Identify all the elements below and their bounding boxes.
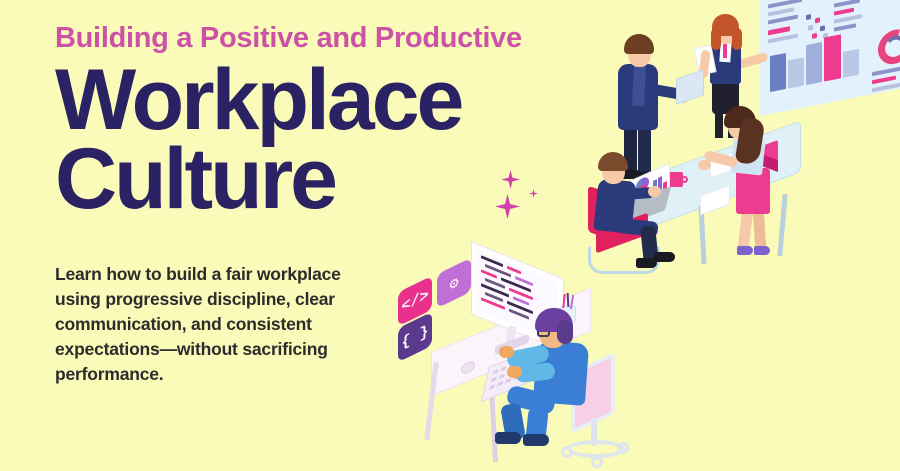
woman-skirt xyxy=(736,168,770,214)
board-dot xyxy=(820,25,825,31)
board-bar xyxy=(843,49,859,78)
woman-heel xyxy=(754,246,770,255)
seated-man-hand xyxy=(648,186,661,197)
woman-heel xyxy=(737,246,753,255)
board-line xyxy=(872,83,900,92)
hero-banner: Building a Positive and Productive Workp… xyxy=(0,0,900,471)
developer-shoe xyxy=(495,432,521,444)
standing-man-hair xyxy=(624,34,654,54)
presenter-hair-side xyxy=(711,28,721,50)
headline-line-2: Culture xyxy=(55,140,615,219)
developer-shoe xyxy=(523,434,549,446)
hero-text-column: Building a Positive and Productive Workp… xyxy=(55,22,615,220)
keyboard-key xyxy=(489,385,495,390)
board-line xyxy=(834,0,860,8)
board-dot xyxy=(815,17,820,23)
curly-braces-icon: { } xyxy=(401,322,428,352)
mug-handle xyxy=(681,176,688,183)
standing-man-papers xyxy=(676,69,704,104)
eyebrow-text: Building a Positive and Productive xyxy=(55,22,615,55)
developer-hand xyxy=(507,366,522,378)
board-line xyxy=(768,34,798,44)
board-content xyxy=(760,0,900,116)
presenter-hair-side xyxy=(732,28,742,50)
hero-body-text: Learn how to build a fair workplace usin… xyxy=(55,262,375,387)
keyboard-key xyxy=(491,377,497,382)
developer-desk-leg xyxy=(424,362,438,440)
board-dot xyxy=(806,14,811,20)
board-bar xyxy=(770,53,786,92)
pencil xyxy=(567,293,570,307)
board-bar xyxy=(788,57,804,88)
board-dot xyxy=(808,25,813,31)
keyboard-key xyxy=(493,369,499,374)
board-bar xyxy=(806,42,822,85)
keyboard-key xyxy=(505,378,511,383)
gears-badge: ⚙ xyxy=(437,258,471,309)
developer-hair-back xyxy=(557,320,573,344)
board-accent-line xyxy=(768,26,790,35)
presenter-leg xyxy=(715,112,723,138)
keyboard-key xyxy=(497,381,503,386)
chair-caster xyxy=(591,456,603,468)
gears-icon: ⚙ xyxy=(449,271,458,294)
standing-man-lapel xyxy=(632,66,646,107)
board-line xyxy=(834,14,862,23)
code-tag-icon: </> xyxy=(401,286,428,316)
woman-hand xyxy=(698,160,711,170)
board-dot xyxy=(812,33,817,39)
page-title: Workplace Culture xyxy=(55,61,615,219)
board-accent-line xyxy=(872,76,896,85)
board-line xyxy=(872,66,900,76)
board-bar-highlight xyxy=(824,34,841,81)
board-line xyxy=(834,23,856,31)
seated-man-shoe xyxy=(654,252,675,262)
headline-line-1: Workplace xyxy=(55,61,615,140)
chair-caster xyxy=(617,442,629,454)
keyboard-key xyxy=(499,374,505,379)
developer-hand xyxy=(499,346,514,358)
board-line xyxy=(768,0,802,8)
meeting-desk-leg xyxy=(777,194,787,256)
team-presentation-illustration xyxy=(580,0,900,304)
board-line xyxy=(768,15,798,25)
board-accent-line xyxy=(834,8,854,16)
chair-caster xyxy=(561,446,573,458)
presenter-tie xyxy=(723,44,727,58)
standing-man-leg xyxy=(638,128,651,176)
woman-leg xyxy=(753,208,767,251)
keyboard-key xyxy=(501,366,507,371)
